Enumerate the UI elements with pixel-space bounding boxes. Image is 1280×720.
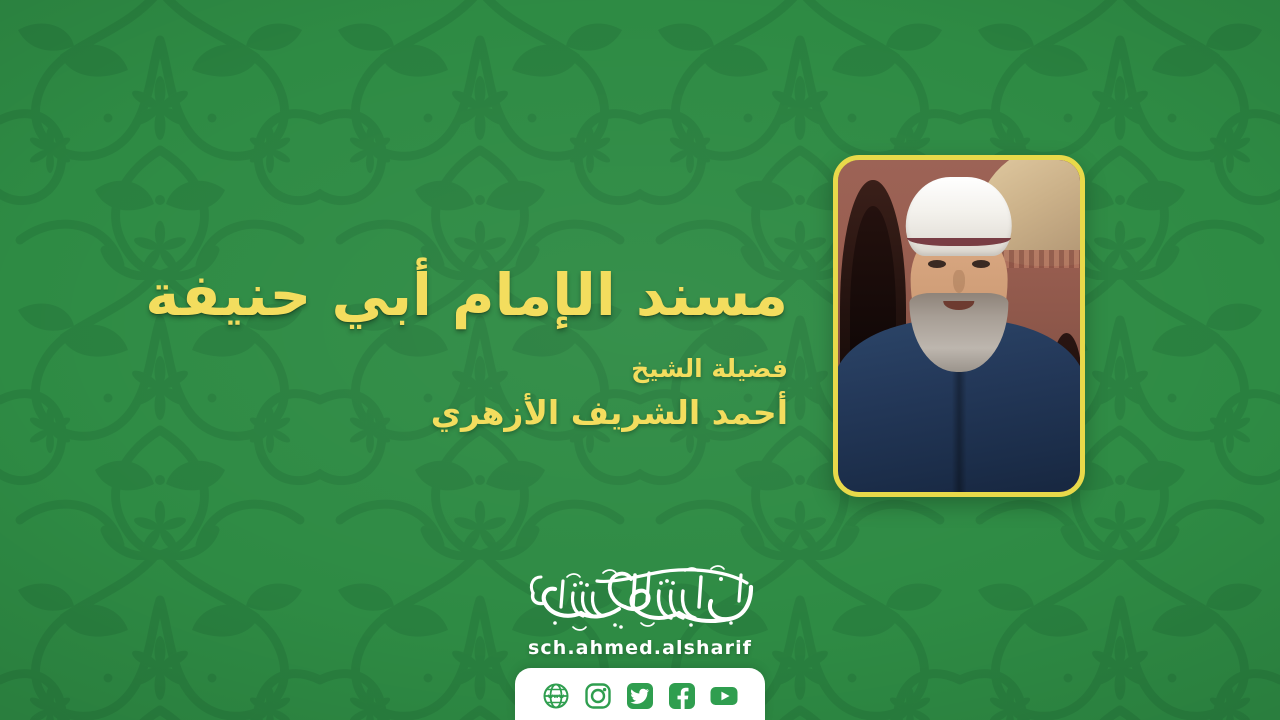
speaker-honorific: فضيلة الشيخ	[60, 351, 788, 387]
brand-block: sch.ahmed.alsharif www	[0, 561, 1280, 720]
youtube-icon[interactable]	[710, 682, 738, 710]
instagram-icon[interactable]	[584, 682, 612, 710]
social-handle: sch.ahmed.alsharif	[528, 637, 752, 659]
speaker-eye	[928, 260, 946, 268]
facebook-icon[interactable]	[668, 682, 696, 710]
speaker-eye	[972, 260, 990, 268]
speaker-name: أحمد الشريف الأزهري	[60, 390, 788, 436]
title-text-block: مسند الإمام أبي حنيفة فضيلة الشيخ أحمد ا…	[60, 262, 788, 436]
calligraphy-logo	[515, 561, 765, 635]
slide-canvas: مسند الإمام أبي حنيفة فضيلة الشيخ أحمد ا…	[0, 0, 1280, 720]
social-links-bar: www	[515, 668, 765, 720]
speaker-portrait-frame	[833, 155, 1085, 497]
twitter-icon[interactable]	[626, 682, 654, 710]
speaker-nose	[953, 270, 965, 293]
website-icon[interactable]: www	[542, 682, 570, 710]
speaker-block: فضيلة الشيخ أحمد الشريف الأزهري	[60, 351, 788, 435]
page-title: مسند الإمام أبي حنيفة	[60, 262, 788, 329]
speaker-portrait-photo	[838, 160, 1080, 492]
svg-text:www: www	[548, 693, 565, 700]
